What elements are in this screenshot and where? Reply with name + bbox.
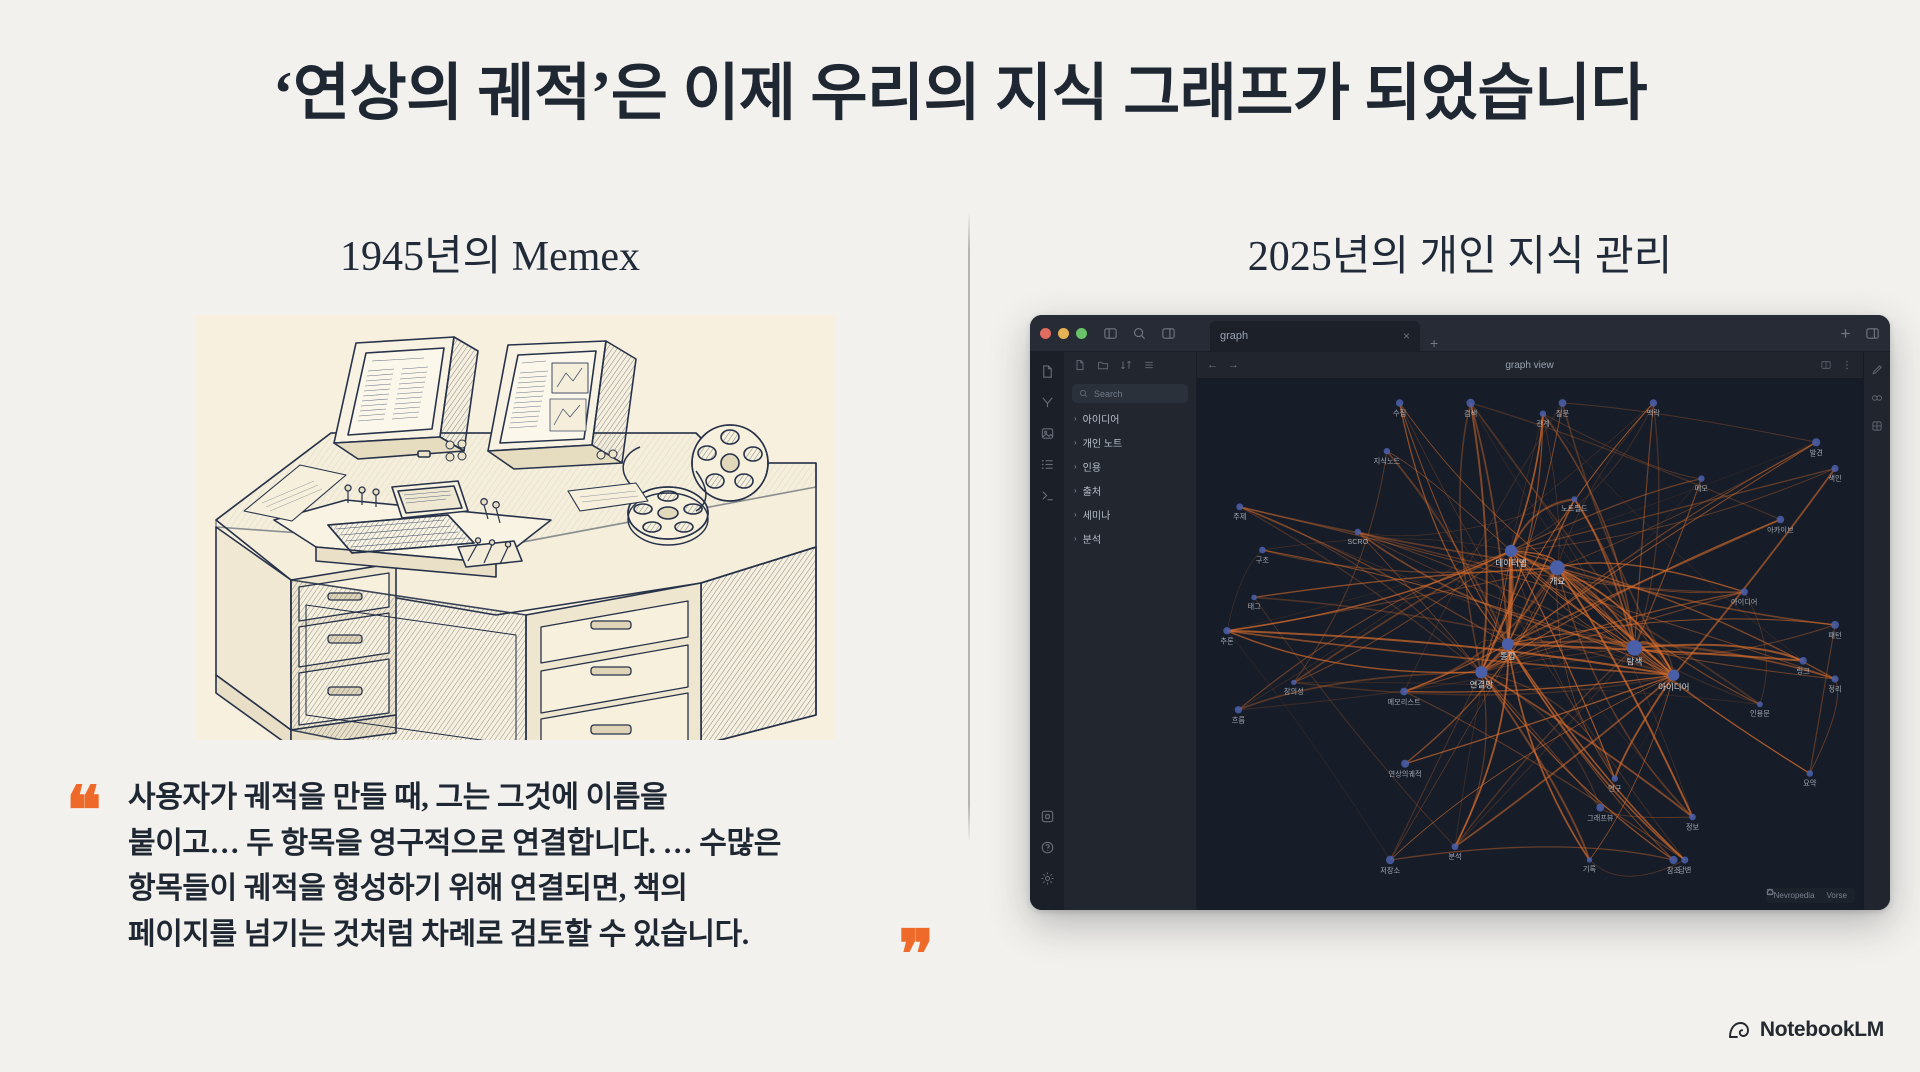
- graph-node-label: 개요: [1549, 576, 1565, 586]
- page-title: ‘연상의 궤적’은 이제 우리의 지식 그래프가 되었습니다: [0, 42, 1920, 132]
- tab-strip[interactable]: graph × +: [1210, 315, 1838, 351]
- graph-node[interactable]: [1681, 857, 1688, 864]
- graph-node[interactable]: [1236, 503, 1243, 510]
- file-icon[interactable]: [1040, 364, 1055, 379]
- graph-node-label: 노트필드: [1561, 504, 1588, 513]
- sidebar-right-panel-icon[interactable]: [1865, 326, 1880, 341]
- new-folder-icon[interactable]: [1097, 359, 1109, 371]
- graph-node[interactable]: [1831, 675, 1838, 682]
- split-pane-icon[interactable]: [1820, 359, 1832, 371]
- graph-node[interactable]: [1475, 666, 1487, 678]
- graph-node-label: 기록: [1583, 865, 1597, 874]
- menu-icon[interactable]: [1143, 359, 1155, 371]
- grid-icon[interactable]: [1871, 420, 1883, 432]
- new-tab-button[interactable]: +: [1430, 335, 1438, 351]
- graph-node-label: 데이터맵: [1495, 558, 1526, 568]
- column-divider: [968, 212, 970, 842]
- new-note-icon[interactable]: [1074, 359, 1086, 371]
- graph-node-label: 탐색: [1627, 657, 1643, 667]
- graph-node[interactable]: [1400, 688, 1408, 696]
- graph-node-label: 답변: [1678, 866, 1691, 875]
- vault-icon[interactable]: [1040, 809, 1055, 824]
- tree-item[interactable]: › 아이디어: [1070, 411, 1190, 426]
- quote-close-icon: ❞: [898, 923, 934, 989]
- quote-line: 페이지를 넘기는 것처럼 차례로 검토할 수 있습니다.: [128, 912, 928, 958]
- graph-node-label: 연결망: [1470, 679, 1494, 689]
- chevron-right-icon[interactable]: ›: [1074, 535, 1077, 543]
- graph-node[interactable]: [1799, 657, 1807, 665]
- graph-pane-header: ← → graph view: [1197, 352, 1863, 379]
- quote-line: 사용자가 궤적을 만들 때, 그는 그것에 이름을: [128, 775, 928, 821]
- graph-node-label: 태그: [1247, 602, 1261, 611]
- graph-node-label: 아이디어: [1658, 682, 1689, 692]
- graph-node-label: 수집: [1393, 409, 1406, 418]
- graph-node-label: 추론: [1220, 637, 1234, 646]
- graph-node-label: 그래프뷰: [1587, 814, 1614, 823]
- graph-node[interactable]: [1596, 804, 1604, 812]
- quote-line: 항목들이 궤적을 형성하기 위해 연결되면, 책의: [128, 866, 928, 912]
- graph-node[interactable]: [1505, 545, 1517, 557]
- graph-settings-icon[interactable]: [1871, 392, 1883, 404]
- graph-node[interactable]: [1757, 701, 1763, 707]
- quote-open-icon: ❝: [66, 779, 102, 845]
- tree-item-label: 인용: [1083, 459, 1101, 474]
- list-icon[interactable]: [1040, 457, 1055, 472]
- tree-item[interactable]: › 개인 노트: [1070, 435, 1190, 450]
- notebooklm-brand: NotebookLM: [1727, 1018, 1884, 1042]
- graph-node-label: 정리: [1828, 685, 1841, 694]
- graph-credits: Nevropedia Vorse: [1766, 888, 1855, 903]
- chevron-right-icon[interactable]: ›: [1074, 463, 1077, 471]
- vault-icon: [1766, 888, 1774, 896]
- graph-canvas[interactable]: 아이디어메모리스트노트필드연구SCRO아이디어연상의궤적데이터맵인용문창의성메모…: [1197, 379, 1863, 910]
- graph-node-label: 검색: [1464, 409, 1477, 418]
- graph-pane: ← → graph view 아이디어메모리스트노트필드연구SCRO아이디어연상…: [1197, 352, 1863, 910]
- graph-view-title: graph view: [1249, 360, 1810, 371]
- sidebar-right-icon[interactable]: [1161, 326, 1176, 341]
- graph-node[interactable]: [1831, 465, 1838, 472]
- graph-node[interactable]: [1587, 857, 1592, 862]
- search-input[interactable]: Search: [1072, 384, 1188, 403]
- graph-node[interactable]: [1689, 814, 1696, 821]
- graph-node[interactable]: [1668, 670, 1679, 681]
- graph-node[interactable]: [1559, 399, 1567, 407]
- graph-node[interactable]: [1384, 448, 1390, 454]
- graph-node[interactable]: [1386, 856, 1394, 864]
- credit-label: Vorse: [1827, 891, 1847, 900]
- graph-node[interactable]: [1235, 706, 1242, 713]
- graph-right-rail[interactable]: [1863, 352, 1890, 910]
- graph-node[interactable]: [1698, 475, 1704, 481]
- graph-node[interactable]: [1396, 399, 1403, 406]
- graph-node[interactable]: [1223, 627, 1230, 634]
- tree-item[interactable]: › 출처: [1070, 483, 1190, 498]
- graph-node[interactable]: [1612, 775, 1618, 781]
- graph-node[interactable]: [1741, 588, 1748, 595]
- brand-label: NotebookLM: [1760, 1018, 1884, 1042]
- quote-line: 붙이고… 두 항목을 영구적으로 연결합니다. … 수많은: [128, 821, 928, 867]
- graph-node-label: 연구: [1608, 784, 1622, 793]
- chevron-right-icon[interactable]: ›: [1074, 415, 1077, 423]
- graph-node-label: 링크: [1796, 667, 1810, 676]
- tree-item-label: 분석: [1083, 531, 1101, 546]
- window-titlebar: graph × +: [1030, 315, 1890, 352]
- file-explorer-pane[interactable]: Search › 아이디어 › 개인 노트 › 인용 › 출처: [1064, 352, 1197, 910]
- tree-item[interactable]: › 분석: [1070, 531, 1190, 546]
- tree-item-label: 출처: [1083, 483, 1101, 498]
- graph-node[interactable]: [1452, 843, 1459, 850]
- sort-icon[interactable]: [1120, 359, 1132, 371]
- graph-node-label: 흐름: [1232, 716, 1246, 725]
- graph-node-label: 연상의궤적: [1389, 770, 1422, 779]
- plus-icon[interactable]: [1838, 326, 1853, 341]
- graph-node-label: 통합: [1500, 651, 1516, 661]
- graph-node[interactable]: [1571, 496, 1577, 502]
- tab-graph[interactable]: graph ×: [1210, 321, 1420, 351]
- edit-pencil-icon[interactable]: [1871, 364, 1883, 376]
- graph-icon[interactable]: [1040, 395, 1055, 410]
- left-icon-rail[interactable]: [1030, 352, 1064, 910]
- graph-node[interactable]: [1540, 411, 1546, 417]
- settings-gear-icon[interactable]: [1040, 871, 1055, 886]
- tree-item[interactable]: › 세미나: [1070, 507, 1190, 522]
- tree-item-label: 개인 노트: [1083, 435, 1123, 450]
- graph-node[interactable]: [1251, 595, 1257, 601]
- terminal-icon[interactable]: [1040, 488, 1055, 503]
- credit-item: Nevropedia: [1774, 891, 1815, 900]
- graph-node[interactable]: [1807, 770, 1814, 777]
- graph-node[interactable]: [1259, 547, 1266, 554]
- graph-node[interactable]: [1401, 760, 1409, 768]
- notebooklm-spiral-icon: [1727, 1018, 1751, 1042]
- minimize-window-button[interactable]: [1058, 328, 1069, 339]
- graph-node-label: 지식노드: [1374, 456, 1401, 465]
- left-column-heading: 1945년의 Memex: [180, 222, 800, 283]
- right-column-heading: 2025년의 개인 지식 관리: [1140, 222, 1780, 283]
- graph-node[interactable]: [1550, 560, 1565, 575]
- credit-item: Vorse: [1827, 891, 1847, 900]
- graph-node[interactable]: [1650, 399, 1657, 406]
- graph-node[interactable]: [1831, 621, 1839, 629]
- close-icon[interactable]: ×: [1403, 329, 1410, 343]
- chevron-right-icon[interactable]: ›: [1074, 511, 1077, 519]
- search-icon: [1079, 389, 1088, 398]
- graph-node-label: 아이디어: [1731, 598, 1757, 607]
- tree-item-label: 아이디어: [1083, 411, 1120, 426]
- graph-node[interactable]: [1812, 438, 1820, 446]
- graph-node[interactable]: [1669, 856, 1677, 864]
- graph-node-label: 패턴: [1828, 631, 1841, 640]
- graph-node-label: 요약: [1803, 779, 1817, 788]
- graph-node[interactable]: [1355, 529, 1361, 535]
- chevron-right-icon[interactable]: ›: [1074, 439, 1077, 447]
- graph-node-label: 색인: [1828, 474, 1841, 483]
- graph-node-label: 메모: [1695, 484, 1709, 493]
- graph-node[interactable]: [1777, 516, 1785, 524]
- sidebar-left-icon[interactable]: [1103, 326, 1118, 341]
- forward-button[interactable]: →: [1228, 359, 1239, 371]
- graph-node-label: 정보: [1686, 822, 1700, 831]
- file-pane-toolbar[interactable]: [1064, 352, 1196, 378]
- tree-item[interactable]: › 인용: [1070, 459, 1190, 474]
- search-placeholder: Search: [1094, 389, 1123, 399]
- obsidian-app-window: graph × +: [1030, 315, 1890, 910]
- quote-text: 사용자가 궤적을 만들 때, 그는 그것에 이름을 붙이고… 두 항목을 영구적…: [128, 775, 928, 957]
- graph-node-label: 인용문: [1750, 709, 1770, 718]
- image-icon[interactable]: [1040, 426, 1055, 441]
- zoom-window-button[interactable]: [1076, 328, 1087, 339]
- file-tree[interactable]: › 아이디어 › 개인 노트 › 인용 › 출처 › 세미나: [1064, 411, 1196, 546]
- memex-illustration: [196, 315, 836, 740]
- close-window-button[interactable]: [1040, 328, 1051, 339]
- more-vertical-icon[interactable]: [1841, 359, 1853, 371]
- graph-node-label: 저장소: [1380, 866, 1400, 875]
- graph-node[interactable]: [1502, 638, 1514, 650]
- graph-node[interactable]: [1627, 640, 1643, 656]
- credit-label: Nevropedia: [1774, 891, 1815, 900]
- help-icon[interactable]: [1040, 840, 1055, 855]
- tab-label: graph: [1220, 330, 1395, 342]
- graph-node-label: 아카이브: [1767, 525, 1794, 534]
- graph-node-label: 구조: [1256, 555, 1270, 564]
- graph-node-label: 주제: [1233, 512, 1246, 521]
- graph-node-label: 질문: [1556, 409, 1570, 418]
- graph-node-label: 맥락: [1647, 409, 1661, 418]
- back-button[interactable]: ←: [1207, 359, 1218, 371]
- graph-node-label: SCRO: [1347, 537, 1368, 546]
- window-traffic-lights[interactable]: [1040, 328, 1087, 339]
- search-icon[interactable]: [1132, 326, 1147, 341]
- memex-quote: ❝ 사용자가 궤적을 만들 때, 그는 그것에 이름을 붙이고… 두 항목을 영…: [66, 775, 946, 975]
- graph-node-label: 관계: [1536, 419, 1549, 428]
- tree-item-label: 세미나: [1083, 507, 1111, 522]
- graph-node-label: 메모리스트: [1388, 698, 1421, 707]
- graph-node-label: 창의성: [1284, 687, 1304, 696]
- graph-node[interactable]: [1466, 399, 1474, 407]
- graph-node-label: 발견: [1810, 448, 1823, 457]
- chevron-right-icon[interactable]: ›: [1074, 487, 1077, 495]
- graph-node-label: 분석: [1448, 852, 1461, 861]
- graph-node[interactable]: [1291, 680, 1296, 685]
